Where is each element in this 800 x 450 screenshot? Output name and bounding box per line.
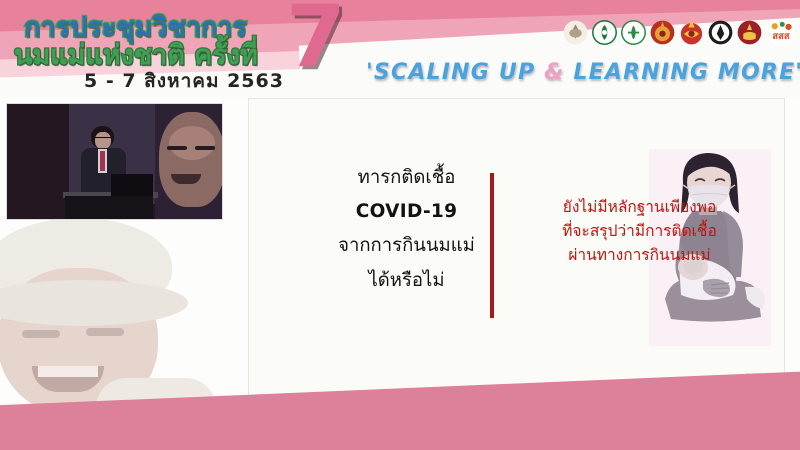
question-line-1: ทารกติดเชื้อ bbox=[309, 161, 504, 195]
vertical-divider-bar bbox=[490, 173, 494, 318]
projected-baby-eye-left bbox=[167, 146, 187, 150]
speaker-tie bbox=[100, 151, 105, 171]
garuda-emblem-logo bbox=[679, 20, 704, 45]
answer-line-1: ยังไม่มีหลักฐานเพียงพอ bbox=[507, 195, 772, 219]
answer-line-2: ที่จะสรุปว่ามีการติดเชื้อ bbox=[507, 219, 772, 243]
laptop-icon bbox=[111, 174, 153, 198]
smiling-child-with-hat-background bbox=[0, 218, 226, 418]
projected-baby-image bbox=[155, 104, 223, 220]
glasses-icon bbox=[94, 137, 112, 141]
conference-header-banner: 7 การประชุมวิชาการ นมแม่แห่งชาติ ครั้งที… bbox=[0, 0, 800, 98]
question-line-3: จากการกินนมแม่ bbox=[309, 229, 504, 263]
thai-pagoda-emblem-logo bbox=[650, 20, 675, 45]
ministry-public-health-logo bbox=[592, 20, 617, 45]
projected-baby-highlight bbox=[169, 126, 215, 160]
podium-body bbox=[65, 196, 153, 220]
child-eye-left bbox=[22, 330, 60, 338]
slide-question-text: ทารกติดเชื้อ COVID-19 จากการกินนมแม่ ได้… bbox=[309, 161, 504, 298]
royal-seal-logo bbox=[563, 20, 588, 45]
black-circle-emblem-logo bbox=[708, 20, 733, 45]
child-eye-right bbox=[86, 328, 124, 336]
question-line-2: COVID-19 bbox=[309, 195, 504, 229]
tagline-prefix: 'SCALING UP bbox=[366, 60, 544, 85]
conference-edition-number: 7 bbox=[286, 0, 346, 80]
tagline-ampersand: & bbox=[544, 60, 564, 85]
svg-text:สสส: สสส bbox=[772, 31, 789, 42]
conference-date: 5 - 7 สิงหาคม 2563 bbox=[84, 66, 284, 96]
tagline-suffix: LEARNING MORE' bbox=[565, 60, 800, 85]
red-crest-logo bbox=[737, 20, 762, 45]
health-department-logo bbox=[621, 20, 646, 45]
conference-tagline: 'SCALING UP & LEARNING MORE' bbox=[366, 60, 800, 85]
question-line-4: ได้หรือไม่ bbox=[309, 264, 504, 298]
slide-screenshot: ทารกติดเชื้อ COVID-19 จากการกินนมแม่ ได้… bbox=[0, 0, 800, 450]
sponsor-logo-row: สสส bbox=[563, 20, 796, 45]
projected-baby-eye-right bbox=[195, 146, 215, 150]
conference-speaker-video-inset[interactable] bbox=[6, 103, 223, 220]
child-hat-brim bbox=[0, 280, 188, 326]
thaihealth-sss-logo: สสส bbox=[766, 20, 796, 45]
answer-line-3: ผ่านทางการกินนมแม่ bbox=[507, 243, 772, 267]
slide-answer-text: ยังไม่มีหลักฐานเพียงพอ ที่จะสรุปว่ามีการ… bbox=[507, 195, 772, 267]
child-teeth bbox=[38, 366, 98, 377]
